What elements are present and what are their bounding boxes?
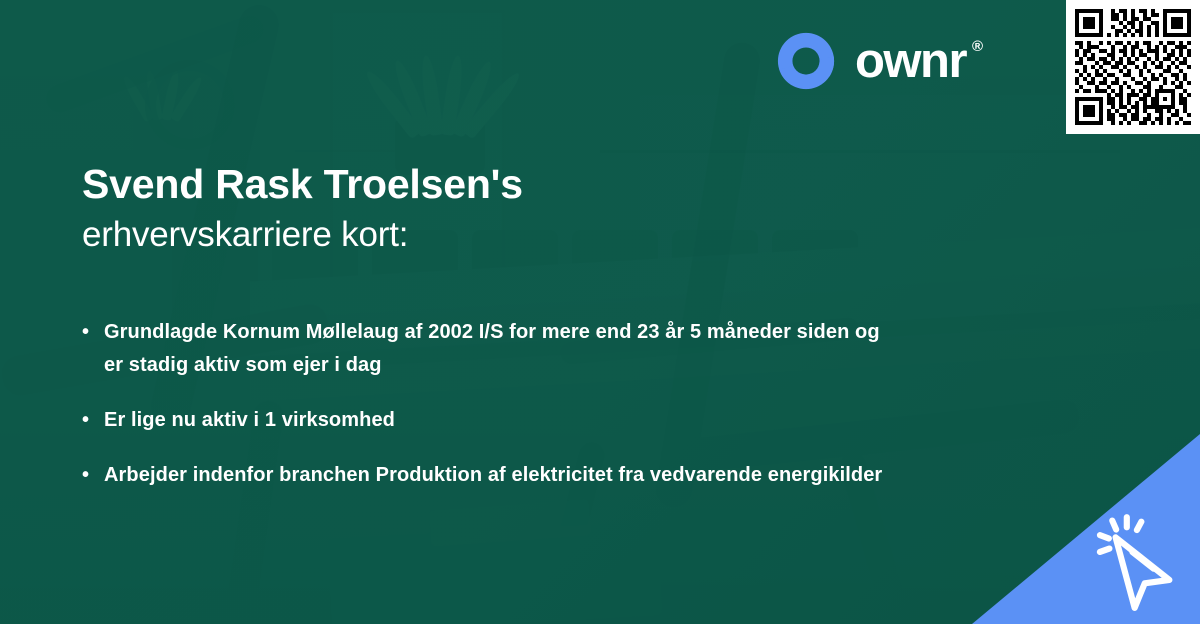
page-title-line-1: Svend Rask Troelsen's	[82, 157, 962, 211]
blue-triangle	[972, 434, 1200, 624]
ownr-circle-logo-icon	[775, 30, 837, 92]
registered-trademark-icon: ®	[972, 39, 983, 54]
list-item: Grundlagde Kornum Møllelaug af 2002 I/S …	[82, 316, 892, 382]
career-facts-list: Grundlagde Kornum Møllelaug af 2002 I/S …	[82, 316, 892, 492]
qr-code-image	[1075, 9, 1191, 125]
page-title: Svend Rask Troelsen's erhvervskarriere k…	[82, 157, 962, 259]
ownr-wordmark-text: ownr	[855, 34, 966, 88]
ownr-wordmark: ownr®	[855, 37, 966, 86]
blue-corner-decoration	[972, 434, 1200, 624]
page-title-line-2: erhvervskarriere kort:	[82, 211, 962, 259]
career-card: ownr®	[0, 0, 1200, 624]
list-item: Er lige nu aktiv i 1 virksomhed	[82, 404, 892, 437]
qr-code[interactable]	[1066, 0, 1200, 134]
brand-logo[interactable]: ownr®	[775, 30, 966, 92]
click-cursor-icon	[1082, 506, 1194, 618]
list-item: Arbejder indenfor branchen Produktion af…	[82, 459, 892, 492]
